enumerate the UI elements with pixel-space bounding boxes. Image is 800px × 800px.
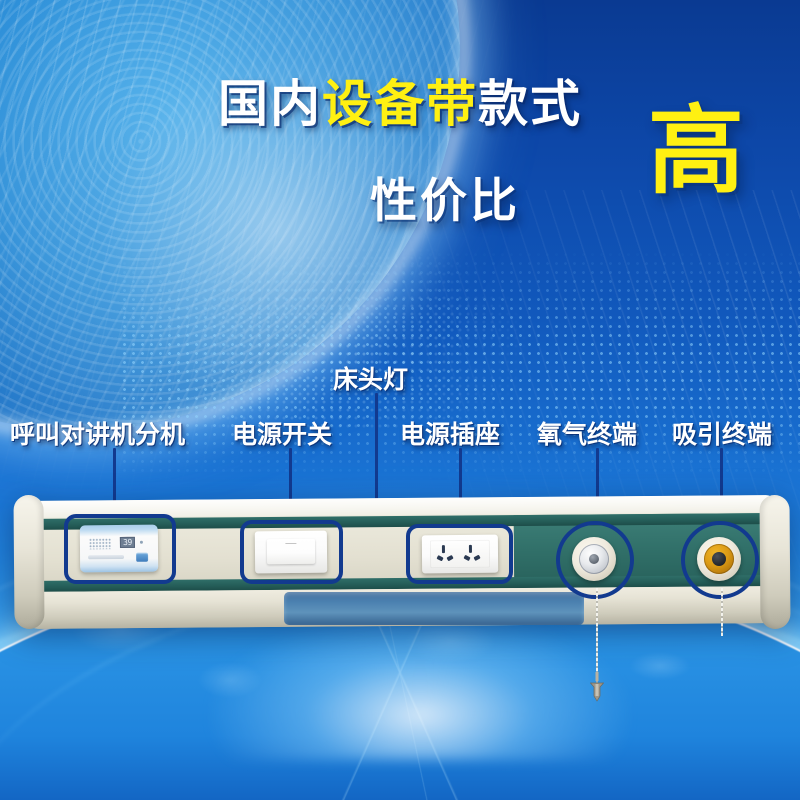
highlight-box-power-socket [406,524,513,584]
callout-label-power-socket: 电源插座 [400,415,500,451]
highlight-box-intercom [64,514,176,584]
callout-label-oxygen-terminal: 氧气终端 [537,415,637,451]
callout-label-intercom: 呼叫对讲机分机 [10,415,185,451]
bed-lamp-cover [284,592,584,625]
callout-label-bed-lamp: 床头灯 [333,360,408,396]
panel-end-cap-right [759,495,790,629]
panel-end-cap-left [13,495,44,629]
suction-pull-cord [721,588,723,636]
highlight-box-power-switch [240,520,343,584]
cord-metal-fitting-icon [590,672,604,702]
highlight-circle-oxygen [556,521,634,599]
callout-label-power-switch: 电源开关 [232,415,332,451]
banner-stage: 国内设备带款式 性价比 高 呼叫对讲机分机 电源开关 床头灯 电源插座 氧气终端… [0,0,800,800]
callout-label-suction-terminal: 吸引终端 [672,415,772,451]
halftone-dots-left [200,230,530,430]
highlight-circle-suction [681,521,759,599]
